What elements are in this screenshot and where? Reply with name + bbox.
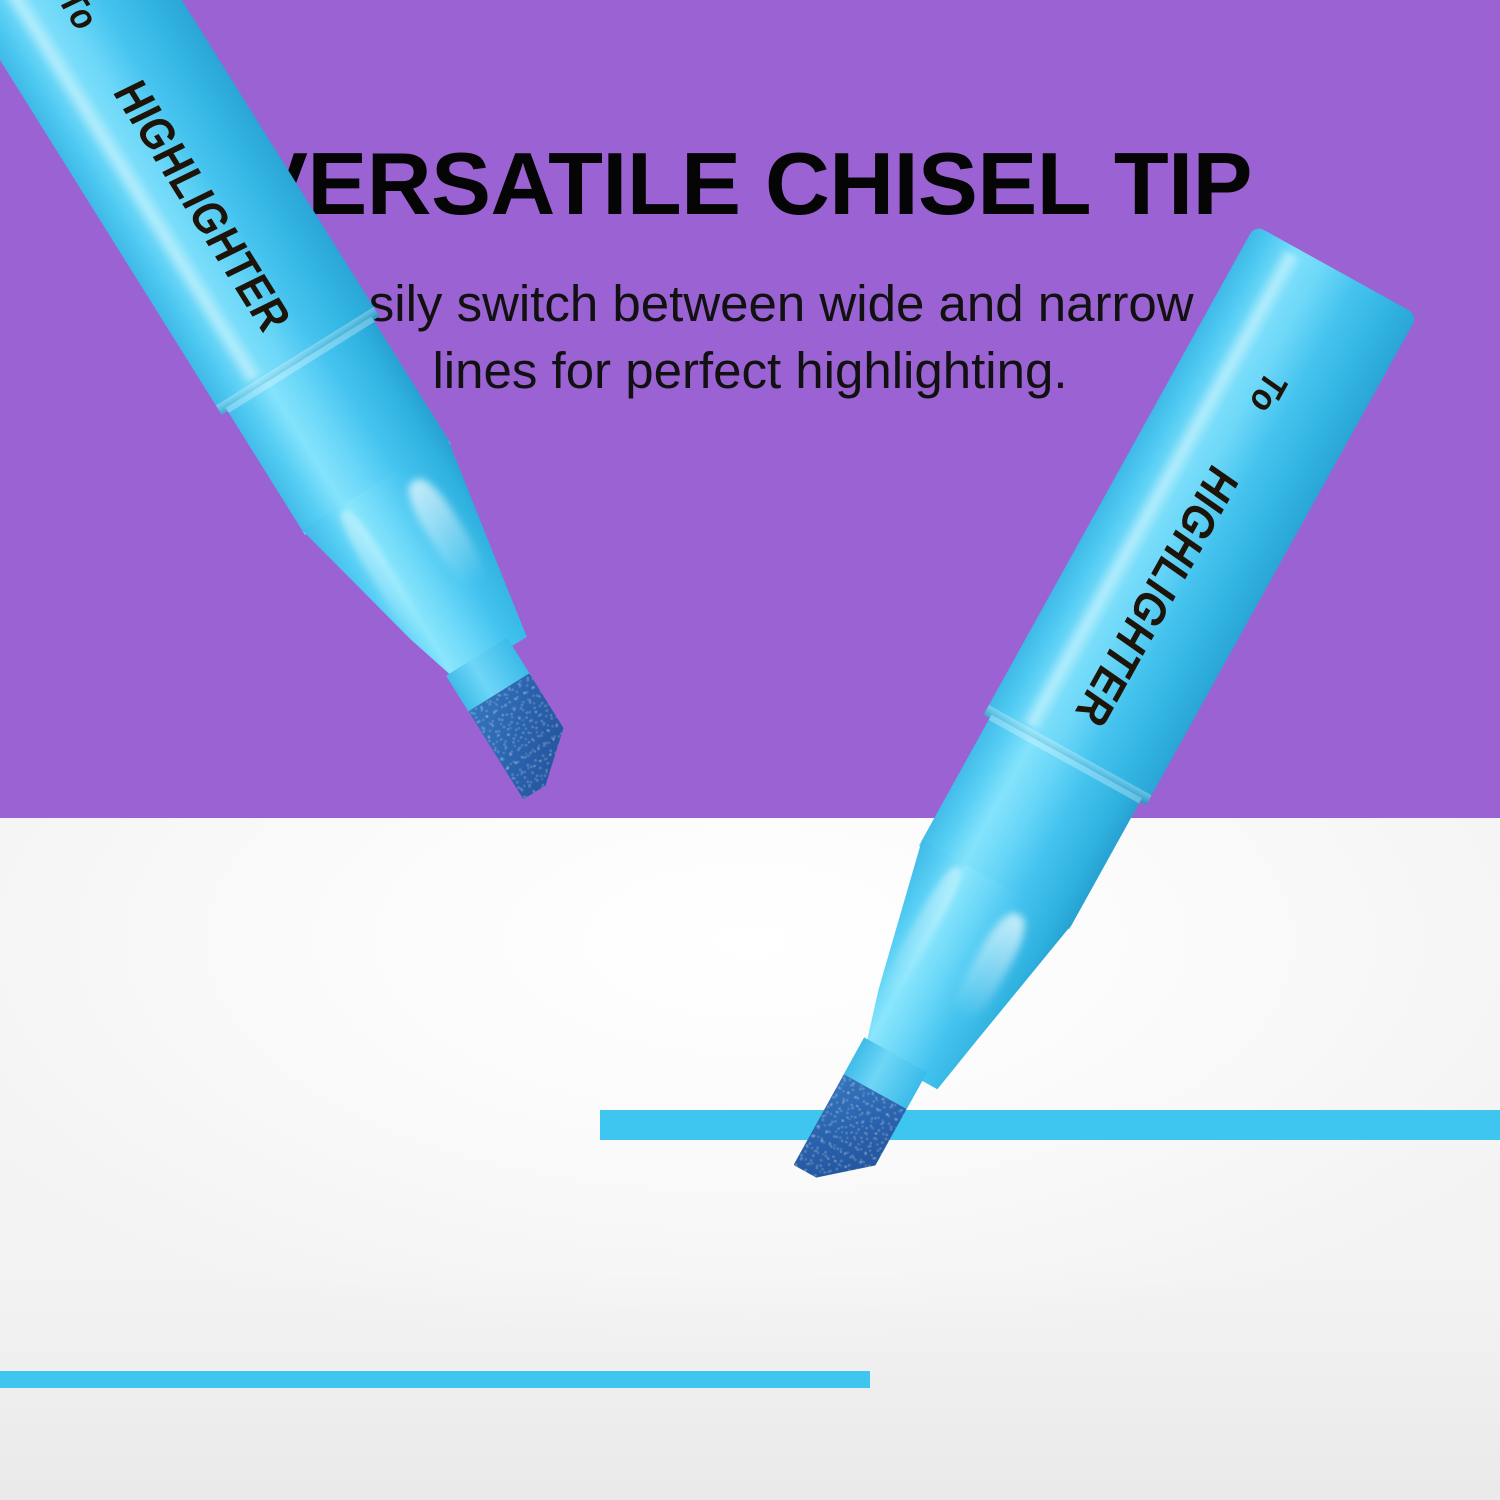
wide-highlight-stroke (600, 1110, 1500, 1140)
product-feature-banner: VERSATILE CHISEL TIP Easily switch betwe… (0, 0, 1500, 1500)
narrow-highlight-stroke (0, 1371, 870, 1388)
subtitle-line-1: Easily switch between wide and narrow (250, 270, 1250, 337)
paper-background-panel (0, 818, 1500, 1500)
